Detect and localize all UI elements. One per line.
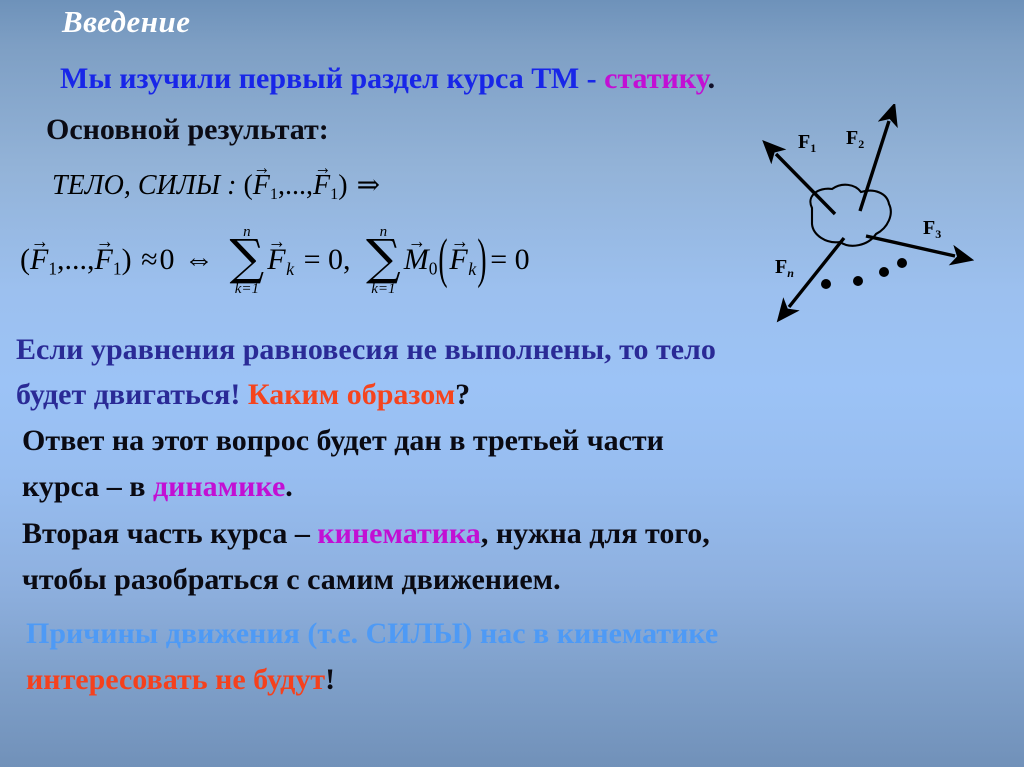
formula-equilibrium-equations: (F1,...,F1) ≈0 ⇔ n ∑ k=1 Fk = 0, n ∑ k=1…: [20, 238, 532, 282]
force-vector-f1: [776, 154, 835, 214]
sigma-icon: ∑: [230, 238, 265, 279]
page-title: Введение: [62, 4, 190, 40]
body-line-2-highlight: Каким образом: [248, 378, 455, 411]
formula2-ellipsis: ,...,: [57, 243, 95, 276]
formula1-open-paren: (: [243, 170, 252, 201]
moment-close-paren: ): [477, 229, 488, 292]
formula2-vector-f-b: F: [95, 243, 113, 277]
moment-arg-vector-f: F: [449, 243, 467, 277]
formula2-iff-sign: ⇔: [182, 243, 216, 276]
body-line-3: Ответ на этот вопрос будет дан в третьей…: [22, 424, 664, 458]
formula2-equals-a: = 0,: [302, 243, 353, 276]
formula2-close-paren: ): [122, 243, 132, 276]
force-diagram-svg: [756, 104, 1024, 324]
force-label-f1: F1: [798, 131, 816, 156]
force-label-f2: F2: [846, 127, 864, 152]
body-line-7: Причины движения (т.е. СИЛЫ) нас в кинем…: [26, 617, 718, 651]
summation-moments-lower-limit: k=1: [371, 281, 395, 298]
headline-period: .: [708, 62, 716, 95]
summation-forces-lower-limit: k=1: [235, 281, 259, 298]
ellipsis-dot: [853, 276, 863, 286]
body-line-2-part-a: будет двигаться!: [16, 378, 248, 411]
formula2-approx-sign: ≈: [139, 243, 159, 276]
body-line-8-part-a: интересовать не будут: [26, 663, 325, 696]
body-line-4: курса – в динамике.: [22, 470, 293, 504]
force-label-fn-base: F: [775, 256, 787, 278]
body-line-1: Если уравнения равновесия не выполнены, …: [16, 333, 716, 367]
body-line-6: чтобы разобраться с самим движением.: [22, 563, 561, 597]
formula2-vector-f-a: F: [30, 243, 48, 277]
body-line-7-text: Причины движения (т.е. СИЛЫ) нас в кинем…: [26, 617, 718, 650]
formula2-sub-b: 1: [113, 258, 122, 278]
ellipsis-dot: [879, 267, 889, 277]
body-line-4-period: .: [285, 470, 293, 503]
body-line-3-text: Ответ на этот вопрос будет дан в третьей…: [22, 424, 664, 457]
body-line-8: интересовать не будут!: [26, 663, 335, 697]
force-vector-f3: [866, 236, 955, 256]
formula2-zero-a: 0: [160, 243, 175, 276]
summation-forces-term-sub: k: [286, 259, 295, 279]
body-line-4-highlight: динамике: [153, 470, 285, 503]
formula1-vector-f-b: F: [313, 170, 330, 202]
formula1-ellipsis: ,...,: [278, 170, 313, 201]
force-label-f3: F3: [923, 217, 941, 242]
force-label-f3-base: F: [923, 217, 935, 239]
formula1-close-paren: ): [338, 170, 347, 201]
moment-subscript-zero: 0: [429, 258, 438, 278]
formula2-open-paren: (: [20, 243, 30, 276]
formula2-sub-a: 1: [48, 258, 57, 278]
force-vector-f2: [860, 121, 889, 211]
force-vector-fn: [789, 238, 844, 307]
force-label-f1-sub: 1: [810, 141, 816, 155]
force-label-f3-sub: 3: [935, 227, 941, 241]
sigma-icon-2: ∑: [366, 238, 401, 279]
body-line-4-part-a: курса – в: [22, 470, 153, 503]
summation-moments-upper-limit: n: [380, 224, 388, 241]
body-line-6-text: чтобы разобраться с самим движением.: [22, 563, 561, 596]
summation-moments: n ∑ k=1: [366, 238, 401, 282]
body-line-2: будет двигаться! Каким образом?: [16, 378, 470, 412]
body-line-1-text: Если уравнения равновесия не выполнены, …: [16, 333, 716, 366]
summation-forces-term-f: F: [267, 243, 285, 277]
force-label-fn: Fn: [775, 256, 794, 281]
moment-arg-sub: k: [468, 259, 477, 279]
ellipsis-dot: [897, 258, 907, 268]
body-line-5-highlight: кинематика: [317, 517, 480, 550]
headline-highlight: статику: [604, 62, 708, 95]
formula-body-forces: ТЕЛО, СИЛЫ : (F1,...,F1) ⇒: [52, 168, 382, 204]
slide-canvas: Введение Мы изучили первый раздел курса …: [0, 0, 1024, 767]
force-label-f2-sub: 2: [858, 137, 864, 151]
body-line-5-part-a: Вторая часть курса –: [22, 517, 317, 550]
formula1-implies-sign: ⇒: [355, 170, 382, 201]
rigid-body-force-diagram: F1 F2 F3 Fn: [756, 104, 1024, 324]
formula1-sub-a: 1: [270, 185, 278, 203]
moment-open-paren: (: [438, 229, 449, 292]
body-line-5-part-c: , нужна для того,: [481, 517, 710, 550]
body-line-5: Вторая часть курса – кинематика, нужна д…: [22, 517, 710, 551]
formula1-vector-f-a: F: [253, 170, 270, 202]
rigid-body-outline: [810, 185, 890, 246]
formula1-lead: ТЕЛО, СИЛЫ :: [52, 170, 236, 201]
force-label-f2-base: F: [846, 127, 858, 149]
summation-forces-upper-limit: n: [243, 224, 251, 241]
force-label-fn-sub: n: [787, 266, 794, 280]
ellipsis-dot: [821, 279, 831, 289]
headline: Мы изучили первый раздел курса ТМ - стат…: [60, 62, 715, 96]
moment-vector-m: M: [404, 243, 429, 277]
subheading-main-result: Основной результат:: [46, 113, 329, 147]
formula2-equals-b: = 0: [488, 243, 531, 276]
body-line-8-exclamation: !: [325, 663, 335, 696]
headline-part1: Мы изучили первый раздел курса ТМ -: [60, 62, 604, 95]
body-line-2-question-mark: ?: [455, 378, 470, 411]
summation-forces: n ∑ k=1: [230, 238, 265, 282]
force-label-f1-base: F: [798, 131, 810, 153]
